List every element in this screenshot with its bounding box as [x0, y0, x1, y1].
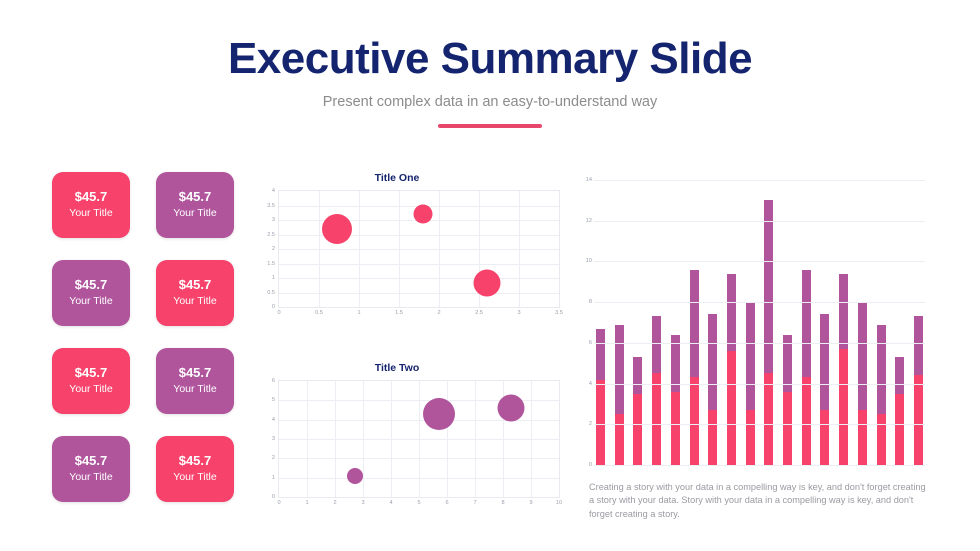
bar-segment-lower	[877, 414, 886, 465]
kpi-card-label: Your Title	[173, 208, 216, 220]
bar-segment-upper	[708, 314, 717, 410]
y-axis-tick-label: 3	[272, 217, 275, 223]
kpi-card-label: Your Title	[69, 384, 112, 396]
y-axis-tick-label: 1	[272, 475, 275, 481]
bubble-chart-two: Title Two 0123456789100123456	[278, 362, 560, 498]
x-axis-tick-label: 2	[437, 310, 440, 316]
kpi-card[interactable]: $45.7Your Title	[156, 436, 234, 502]
y-axis-tick-label: 6	[580, 340, 592, 346]
bar-column[interactable]	[652, 316, 661, 465]
gridline-horizontal	[594, 424, 925, 425]
bar-segment-lower	[708, 410, 717, 465]
kpi-card[interactable]: $45.7Your Title	[156, 172, 234, 238]
bar-segment-upper	[895, 357, 904, 394]
accent-divider	[438, 124, 542, 128]
kpi-card-value: $45.7	[75, 190, 108, 204]
bubble-data-point[interactable]	[423, 398, 455, 430]
bar-segment-lower	[914, 375, 923, 465]
gridline-horizontal	[594, 221, 925, 222]
x-axis-tick-label: 6	[445, 500, 448, 506]
y-axis-tick-label: 0	[272, 304, 275, 310]
bar-segment-upper	[858, 302, 867, 410]
gridline-horizontal	[594, 343, 925, 344]
gridline-horizontal	[279, 458, 559, 459]
bar-segment-upper	[839, 274, 848, 349]
y-axis-tick-label: 10	[580, 258, 592, 264]
kpi-card[interactable]: $45.7Your Title	[156, 260, 234, 326]
kpi-card-value: $45.7	[179, 278, 212, 292]
bar-column[interactable]	[690, 270, 699, 465]
x-axis-tick-label: 1	[305, 500, 308, 506]
kpi-card-value: $45.7	[179, 366, 212, 380]
bar-segment-lower	[652, 373, 661, 465]
bar-series-container	[596, 180, 923, 465]
y-axis-tick-label: 0.5	[267, 290, 275, 296]
y-axis-tick-label: 3.5	[267, 203, 275, 209]
y-axis-tick-label: 12	[580, 218, 592, 224]
bar-segment-upper	[802, 270, 811, 378]
x-axis-tick-label: 0	[277, 500, 280, 506]
bar-segment-lower	[727, 351, 736, 465]
kpi-card-label: Your Title	[69, 472, 112, 484]
x-axis-tick-label: 8	[501, 500, 504, 506]
y-axis-tick-label: 1.5	[267, 261, 275, 267]
gridline-horizontal	[279, 478, 559, 479]
gridline-horizontal	[279, 278, 559, 279]
kpi-card[interactable]: $45.7Your Title	[52, 348, 130, 414]
slide-root: Executive Summary Slide Present complex …	[0, 0, 980, 551]
chart-two-plot: 0123456789100123456	[278, 380, 560, 498]
y-axis-tick-label: 8	[580, 299, 592, 305]
x-axis-tick-label: 3.5	[555, 310, 563, 316]
x-axis-tick-label: 10	[556, 500, 562, 506]
bar-column[interactable]	[671, 335, 680, 465]
page-title: Executive Summary Slide	[0, 36, 980, 82]
bar-segment-lower	[764, 373, 773, 465]
bar-segment-lower	[746, 410, 755, 465]
bar-chart-plot: 02468101214	[580, 180, 925, 465]
y-axis-tick-label: 0	[272, 494, 275, 500]
y-axis-tick-label: 1	[272, 275, 275, 281]
chart-caption: Creating a story with your data in a com…	[589, 481, 926, 521]
gridline-horizontal	[594, 261, 925, 262]
bar-segment-lower	[671, 392, 680, 465]
y-axis-tick-label: 14	[580, 177, 592, 183]
slide-header: Executive Summary Slide Present complex …	[0, 36, 980, 128]
x-axis-tick-label: 1.5	[395, 310, 403, 316]
y-axis-tick-label: 3	[272, 436, 275, 442]
x-axis-tick-label: 3	[517, 310, 520, 316]
y-axis-tick-label: 4	[580, 381, 592, 387]
bar-segment-lower	[783, 392, 792, 465]
bar-segment-lower	[839, 349, 848, 465]
chart-one-title: Title One	[278, 172, 560, 184]
bar-segment-upper	[727, 274, 736, 351]
y-axis-tick-label: 2	[580, 421, 592, 427]
x-axis-tick-label: 9	[529, 500, 532, 506]
y-axis-tick-label: 6	[272, 378, 275, 384]
chart-two-title: Title Two	[278, 362, 560, 374]
gridline-horizontal	[279, 293, 559, 294]
bar-segment-upper	[652, 316, 661, 373]
kpi-card[interactable]: $45.7Your Title	[156, 348, 234, 414]
page-subtitle: Present complex data in an easy-to-under…	[0, 94, 980, 110]
x-axis-tick-label: 5	[417, 500, 420, 506]
bar-segment-upper	[596, 329, 605, 380]
bar-segment-upper	[633, 357, 642, 394]
bar-segment-lower	[802, 377, 811, 465]
kpi-card[interactable]: $45.7Your Title	[52, 436, 130, 502]
gridline-horizontal	[594, 384, 925, 385]
y-axis-tick-label: 0	[580, 462, 592, 468]
bar-segment-upper	[615, 325, 624, 415]
bubble-data-point[interactable]	[414, 205, 433, 224]
kpi-card-value: $45.7	[179, 454, 212, 468]
bubble-data-point[interactable]	[474, 270, 501, 297]
kpi-card-value: $45.7	[75, 278, 108, 292]
bubble-chart-one: Title One 00.511.522.533.500.511.522.533…	[278, 172, 560, 308]
x-axis-tick-label: 4	[389, 500, 392, 506]
bar-segment-lower	[690, 377, 699, 465]
bar-segment-upper	[820, 314, 829, 410]
kpi-card-grid: $45.7Your Title$45.7Your Title$45.7Your …	[52, 172, 252, 502]
kpi-card-value: $45.7	[75, 366, 108, 380]
kpi-card-label: Your Title	[69, 296, 112, 308]
kpi-card-label: Your Title	[173, 296, 216, 308]
bar-segment-upper	[764, 200, 773, 373]
y-axis-tick-label: 2.5	[267, 232, 275, 238]
x-axis-tick-label: 7	[473, 500, 476, 506]
stacked-bar-chart: 02468101214	[580, 180, 925, 465]
gridline-horizontal	[279, 235, 559, 236]
y-axis-tick-label: 2	[272, 455, 275, 461]
bar-column[interactable]	[820, 314, 829, 465]
bar-segment-upper	[877, 325, 886, 415]
y-axis-tick-label: 4	[272, 417, 275, 423]
bar-segment-upper	[746, 302, 755, 410]
x-axis-tick-label: 0	[277, 310, 280, 316]
kpi-card[interactable]: $45.7Your Title	[52, 172, 130, 238]
bar-column[interactable]	[596, 329, 605, 465]
bar-segment-lower	[596, 380, 605, 466]
gridline-horizontal	[594, 302, 925, 303]
bar-segment-upper	[914, 316, 923, 375]
gridline-horizontal	[279, 264, 559, 265]
kpi-card-label: Your Title	[173, 384, 216, 396]
bar-column[interactable]	[633, 357, 642, 465]
bubble-data-point[interactable]	[322, 214, 352, 244]
kpi-card-value: $45.7	[179, 190, 212, 204]
y-axis-tick-label: 4	[272, 188, 275, 194]
gridline-horizontal	[279, 439, 559, 440]
x-axis-tick-label: 2	[333, 500, 336, 506]
bar-segment-lower	[633, 394, 642, 465]
x-axis-tick-label: 0.5	[315, 310, 323, 316]
bar-column[interactable]	[914, 316, 923, 465]
kpi-card-label: Your Title	[173, 472, 216, 484]
gridline-horizontal	[279, 249, 559, 250]
bar-column[interactable]	[802, 270, 811, 465]
kpi-card[interactable]: $45.7Your Title	[52, 260, 130, 326]
kpi-card-label: Your Title	[69, 208, 112, 220]
gridline-horizontal	[594, 465, 925, 466]
bar-column[interactable]	[615, 325, 624, 465]
bubble-data-point[interactable]	[347, 468, 363, 484]
bar-column[interactable]	[764, 200, 773, 465]
chart-one-plot: 00.511.522.533.500.511.522.533.54	[278, 190, 560, 308]
bar-column[interactable]	[895, 357, 904, 465]
y-axis-tick-label: 5	[272, 397, 275, 403]
bar-segment-lower	[820, 410, 829, 465]
kpi-card-value: $45.7	[75, 454, 108, 468]
x-axis-tick-label: 2.5	[475, 310, 483, 316]
y-axis-tick-label: 2	[272, 246, 275, 252]
x-axis-tick-label: 1	[357, 310, 360, 316]
bar-segment-lower	[858, 410, 867, 465]
bar-column[interactable]	[708, 314, 717, 465]
bar-segment-lower	[615, 414, 624, 465]
bubble-data-point[interactable]	[498, 395, 525, 422]
gridline-horizontal	[594, 180, 925, 181]
bar-column[interactable]	[877, 325, 886, 465]
bar-column[interactable]	[783, 335, 792, 465]
bar-segment-lower	[895, 394, 904, 465]
x-axis-tick-label: 3	[361, 500, 364, 506]
bar-segment-upper	[690, 270, 699, 378]
